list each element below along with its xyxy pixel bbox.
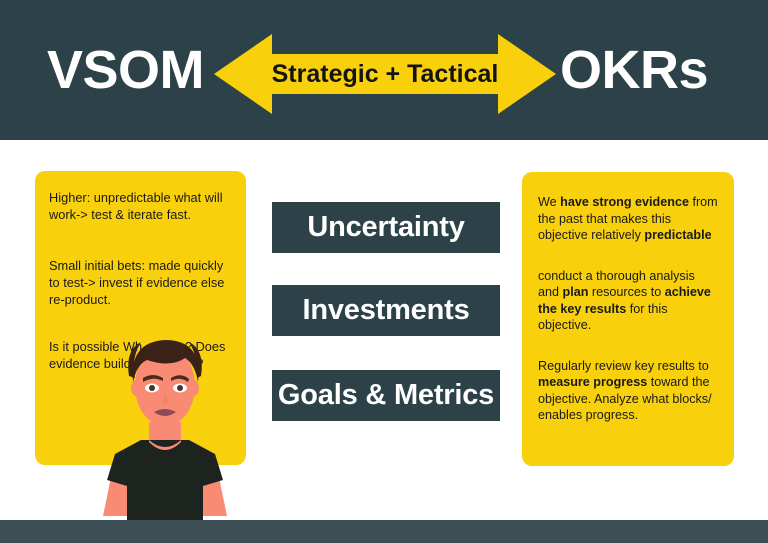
center-box-goals-metrics: Goals & Metrics bbox=[272, 370, 500, 421]
text-run: We bbox=[538, 195, 560, 209]
center-box-label: Uncertainty bbox=[307, 211, 464, 244]
center-box-label: Investments bbox=[302, 294, 469, 327]
left-card-paragraph-1: Higher: unpredictable what will work-> t… bbox=[49, 189, 232, 223]
bold-run: predictable bbox=[644, 228, 711, 242]
body-area: Higher: unpredictable what will work-> t… bbox=[0, 140, 768, 520]
center-box-label: Goals & Metrics bbox=[278, 379, 494, 412]
bold-run: measure progress bbox=[538, 375, 647, 389]
right-card-paragraph-3: Regularly review key results to measure … bbox=[538, 358, 718, 424]
person-hands-on-hips-illustration bbox=[85, 330, 245, 520]
bold-run: plan bbox=[563, 285, 589, 299]
center-box-investments: Investments bbox=[272, 285, 500, 336]
center-box-uncertainty: Uncertainty bbox=[272, 202, 500, 253]
right-card-paragraph-1: We have strong evidence from the past th… bbox=[538, 194, 718, 244]
text-run: Regularly review key results to bbox=[538, 359, 709, 373]
header-band: VSOM Strategic + Tactical OKRs bbox=[0, 0, 768, 140]
arrow-label: Strategic + Tactical bbox=[214, 32, 556, 116]
right-card-paragraph-2: conduct a thorough analysis and plan res… bbox=[538, 268, 718, 334]
header-left-word: VSOM bbox=[47, 40, 204, 100]
right-yellow-card: We have strong evidence from the past th… bbox=[522, 172, 734, 466]
footer-band bbox=[0, 520, 768, 543]
text-run: resources to bbox=[588, 285, 664, 299]
bold-run: have strong evidence bbox=[560, 195, 692, 209]
double-headed-arrow-icon: Strategic + Tactical bbox=[214, 32, 556, 116]
left-card-paragraph-2: Small initial bets: made quickly to test… bbox=[49, 257, 232, 308]
infographic-canvas: VSOM Strategic + Tactical OKRs Higher: u… bbox=[0, 0, 768, 543]
header-right-word: OKRs bbox=[560, 40, 708, 100]
